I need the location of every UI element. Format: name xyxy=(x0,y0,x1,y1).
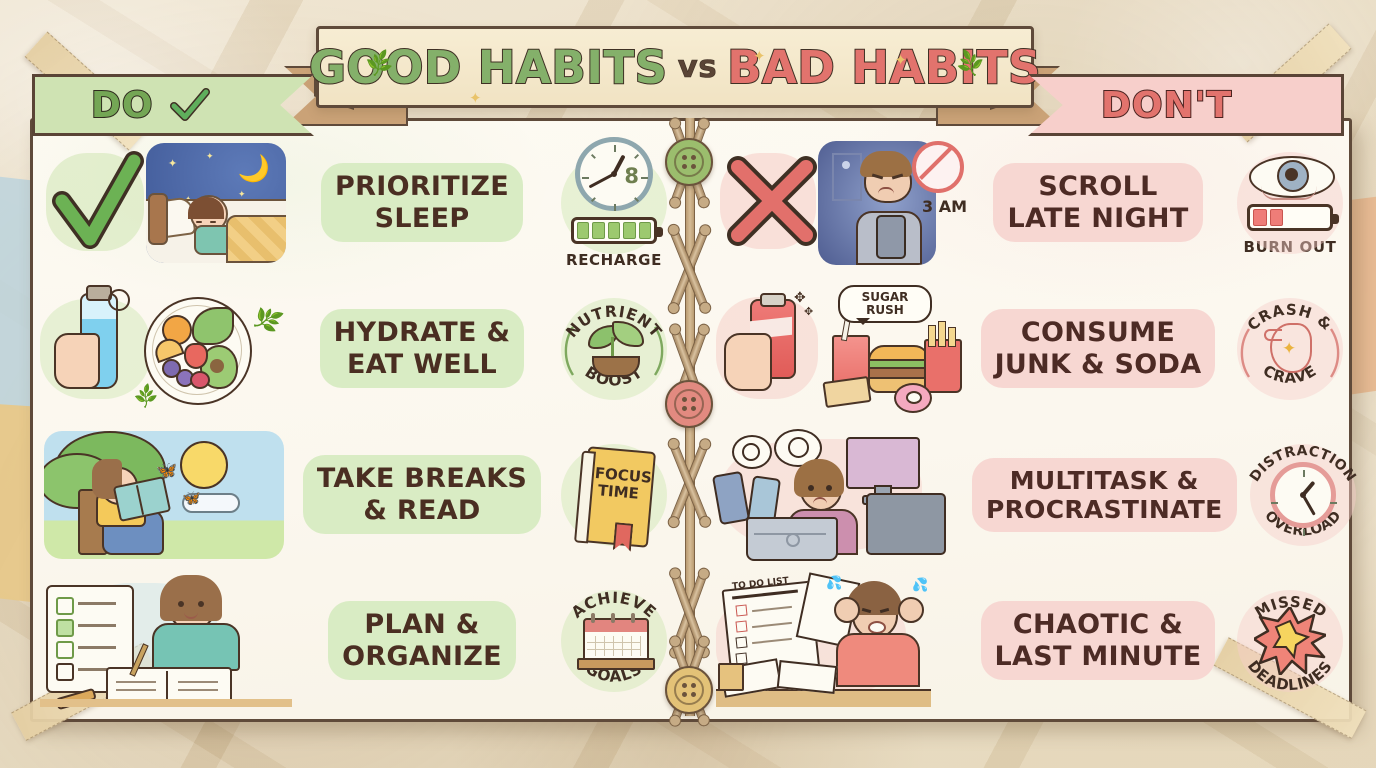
no-clock-icon xyxy=(912,141,964,193)
checkmark-icon xyxy=(170,88,210,122)
label-line-2: SLEEP xyxy=(335,203,509,234)
distraction-overload-circle: DISTRACTION OVERLOAD xyxy=(1244,433,1362,557)
badge-achieve-goals: ACHIEVE GOALS xyxy=(552,575,676,707)
badge-focus-time: FOCUS TIME xyxy=(552,429,676,561)
illustration-boy-on-phone-at-night: 3 AM xyxy=(716,137,968,269)
label-hydrate-eat-well: HYDRATE & EAT WELL xyxy=(292,309,552,388)
label-line-2: LATE NIGHT xyxy=(1007,203,1188,234)
illustration-girl-sleeping: 🌙 ✦ ✦ ✦ ✦ xyxy=(40,137,292,269)
nutrient-boost-circle: NUTRIENT BOOST xyxy=(555,287,673,411)
good-row-sleep: 🌙 ✦ ✦ ✦ ✦ xyxy=(40,130,676,275)
dont-banner: DON'T xyxy=(1028,74,1344,136)
stomach-icon: ✦ xyxy=(1262,323,1318,375)
badge-missed-deadlines: MISSED DEADLINES xyxy=(1228,575,1352,707)
label-line-2: EAT WELL xyxy=(334,349,511,380)
leaf-icon: 🌿 xyxy=(250,302,286,337)
sprout-icon xyxy=(584,321,644,377)
title-ribbon: 🌿 ✦ ✦ ✦ GOOD HABITS vs BAD HABITS 🌿 xyxy=(292,14,1052,106)
title-bad-habits: BAD HABITS xyxy=(727,41,1041,94)
label-line-2: LAST MINUTE xyxy=(995,641,1202,672)
book-icon: FOCUS TIME xyxy=(574,445,654,545)
speech-line-1: SUGAR xyxy=(847,291,923,304)
illustration-reading-under-tree: 🦋 🦋 xyxy=(40,429,292,561)
badge-burn-out: BURN OUT xyxy=(1228,137,1352,269)
good-habits-column: 🌙 ✦ ✦ ✦ ✦ xyxy=(40,130,676,712)
dont-banner-label: DON'T xyxy=(1101,85,1232,126)
title-vs: vs xyxy=(678,49,718,85)
badge-distraction-overload: DISTRACTION OVERLOAD xyxy=(1241,429,1365,561)
bad-row-junk: ✥ ✥ SUGAR RUSH xyxy=(716,276,1352,421)
illustration-stressed-multitasking xyxy=(716,429,968,561)
label-take-breaks-read: TAKE BREAKS & READ xyxy=(292,455,552,534)
label-line-1: CHAOTIC & xyxy=(995,609,1202,640)
bad-habits-column: 3 AM SCROLL LATE NIGHT BUR xyxy=(716,130,1352,712)
label-line-1: HYDRATE & xyxy=(334,317,511,348)
alarm-clock-icon xyxy=(1270,462,1336,528)
label-line-1: PRIORITIZE xyxy=(335,171,509,202)
achieve-goals-circle: ACHIEVE GOALS xyxy=(555,579,673,703)
label-line-2: & READ xyxy=(317,495,527,526)
good-row-hydrate: 🌿 🌿 HYDRATE & EAT WELL xyxy=(40,276,676,421)
big-cross-icon xyxy=(724,153,820,249)
time-label-3am: 3 AM xyxy=(922,197,967,216)
clock-icon: 8 xyxy=(575,137,653,212)
good-row-breaks: 🦋 🦋 TAKE BREAKS & READ xyxy=(40,422,676,567)
badge-crash-crave: CRASH & CRAVE ✦ xyxy=(1228,283,1352,415)
label-prioritize-sleep: PRIORITIZE SLEEP xyxy=(292,163,552,242)
label-scroll-late-night: SCROLL LATE NIGHT xyxy=(968,163,1228,242)
explosion-burst-icon xyxy=(1254,607,1326,675)
do-banner: DO xyxy=(32,74,314,136)
label-line-1: SCROLL xyxy=(1007,171,1188,202)
bad-row-scroll: 3 AM SCROLL LATE NIGHT BUR xyxy=(716,130,1352,275)
illustration-planning-checklist xyxy=(40,575,292,707)
label-line-2: PROCRASTINATE xyxy=(986,495,1223,524)
badge-nutrient-boost: NUTRIENT BOOST xyxy=(552,283,676,415)
star-icon: ✦ xyxy=(894,51,907,69)
do-banner-label: DO xyxy=(91,85,154,126)
label-line-1: MULTITASK & xyxy=(986,466,1223,495)
label-plan-organize: PLAN & ORGANIZE xyxy=(292,601,552,680)
label-chaotic-last-minute: CHAOTIC & LAST MINUTE xyxy=(968,601,1228,680)
label-line-2: ORGANIZE xyxy=(342,641,502,672)
label-line-1: CONSUME xyxy=(995,317,1202,348)
speech-bubble-sugar-rush: SUGAR RUSH xyxy=(838,285,932,323)
speech-line-2: RUSH xyxy=(847,304,923,317)
star-icon: ✦ xyxy=(753,47,766,65)
battery-full-icon xyxy=(571,217,657,243)
missed-deadlines-circle: MISSED DEADLINES xyxy=(1231,579,1349,703)
label-line-2: JUNK & SODA xyxy=(995,349,1202,380)
crash-crave-circle: CRASH & CRAVE ✦ xyxy=(1231,287,1349,411)
bad-row-chaotic: TO DO LIST 💦 💦 xyxy=(716,568,1352,713)
label-line-1: TAKE BREAKS xyxy=(317,463,527,494)
label-consume-junk-soda: CONSUME JUNK & SODA xyxy=(968,309,1228,388)
good-row-plan: PLAN & ORGANIZE ACHIEVE xyxy=(40,568,676,713)
label-line-1: PLAN & xyxy=(342,609,502,640)
title-banner: 🌿 ✦ ✦ ✦ GOOD HABITS vs BAD HABITS 🌿 xyxy=(316,26,1034,108)
clock-number: 8 xyxy=(624,164,639,188)
battery-low-icon xyxy=(1247,204,1333,231)
title-good-habits: GOOD HABITS xyxy=(309,41,668,94)
calendar-icon xyxy=(577,612,651,670)
illustration-water-and-healthy-plate: 🌿 🌿 xyxy=(40,283,292,415)
star-icon: ✦ xyxy=(469,89,482,107)
tired-eye-icon xyxy=(1249,150,1331,200)
book-title-line-2: TIME xyxy=(593,482,644,504)
infographic-poster: 🌿 ✦ ✦ ✦ GOOD HABITS vs BAD HABITS 🌿 DO D… xyxy=(0,0,1376,768)
label-multitask-procrastinate: MULTITASK & PROCRASTINATE xyxy=(968,458,1241,532)
illustration-panicked-desk: TO DO LIST 💦 💦 xyxy=(716,575,968,707)
illustration-soda-and-fastfood: ✥ ✥ SUGAR RUSH xyxy=(716,283,968,415)
big-checkmark-icon xyxy=(50,149,146,257)
bad-row-multitask: MULTITASK & PROCRASTINATE DISTRACTION xyxy=(716,422,1352,567)
badge-recharge: 8 RECHARGE xyxy=(552,137,676,269)
